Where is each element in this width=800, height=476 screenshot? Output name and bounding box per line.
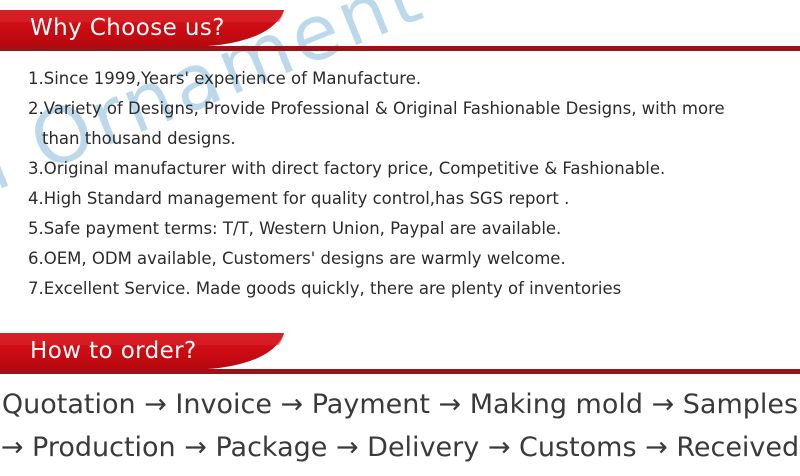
list-item: 4.High Standard management for quality c… — [28, 184, 768, 214]
how-to-order-banner-title: How to order? — [30, 338, 197, 364]
promo-banner-page: u Ornament Co., Ltd Why Choose us? 1.Sin… — [0, 0, 800, 476]
list-item: 7.Excellent Service. Made goods quickly,… — [28, 274, 768, 304]
order-flow: Quotation → Invoice → Payment → Making m… — [0, 383, 800, 469]
list-item: than thousand designs. — [28, 124, 768, 154]
list-item: 2.Variety of Designs, Provide Profession… — [28, 94, 768, 124]
list-item: 1.Since 1999,Years' experience of Manufa… — [28, 64, 768, 94]
order-flow-line: → Production → Package → Delivery → Cust… — [0, 426, 800, 469]
list-item: 6.OEM, ODM available, Customers' designs… — [28, 244, 768, 274]
why-choose-list: 1.Since 1999,Years' experience of Manufa… — [28, 64, 768, 304]
list-item: 3.Original manufacturer with direct fact… — [28, 154, 768, 184]
order-flow-line: Quotation → Invoice → Payment → Making m… — [0, 383, 800, 426]
why-choose-banner-title: Why Choose us? — [30, 15, 225, 41]
list-item: 5.Safe payment terms: T/T, Western Union… — [28, 214, 768, 244]
